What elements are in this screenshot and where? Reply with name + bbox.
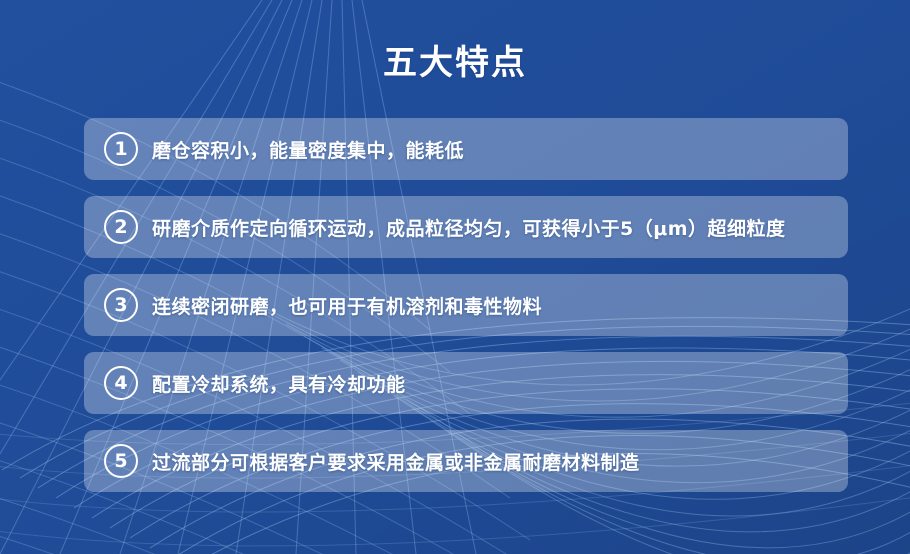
- page-title: 五大特点: [0, 42, 910, 84]
- list-item[interactable]: 5 过流部分可根据客户要求采用金属或非金属耐磨材料制造: [84, 430, 848, 492]
- item-number-badge: 5: [104, 444, 138, 478]
- list-item[interactable]: 1 磨仓容积小，能量密度集中，能耗低: [84, 118, 848, 180]
- item-text: 过流部分可根据客户要求采用金属或非金属耐磨材料制造: [152, 448, 640, 475]
- item-text: 配置冷却系统，具有冷却功能: [152, 370, 406, 397]
- feature-poster: 五大特点 1 磨仓容积小，能量密度集中，能耗低 2 研磨介质作定向循环运动，成品…: [0, 0, 910, 554]
- list-item[interactable]: 3 连续密闭研磨，也可用于有机溶剂和毒性物料: [84, 274, 848, 336]
- item-number-badge: 3: [104, 288, 138, 322]
- item-number-badge: 1: [104, 132, 138, 166]
- item-number-badge: 4: [104, 366, 138, 400]
- item-text: 连续密闭研磨，也可用于有机溶剂和毒性物料: [152, 292, 542, 319]
- list-item[interactable]: 4 配置冷却系统，具有冷却功能: [84, 352, 848, 414]
- item-text: 磨仓容积小，能量密度集中，能耗低: [152, 136, 464, 163]
- item-text: 研磨介质作定向循环运动，成品粒径均匀，可获得小于5（μm）超细粒度: [152, 214, 786, 241]
- item-number-badge: 2: [104, 210, 138, 244]
- list-item[interactable]: 2 研磨介质作定向循环运动，成品粒径均匀，可获得小于5（μm）超细粒度: [84, 196, 848, 258]
- feature-list: 1 磨仓容积小，能量密度集中，能耗低 2 研磨介质作定向循环运动，成品粒径均匀，…: [84, 118, 848, 492]
